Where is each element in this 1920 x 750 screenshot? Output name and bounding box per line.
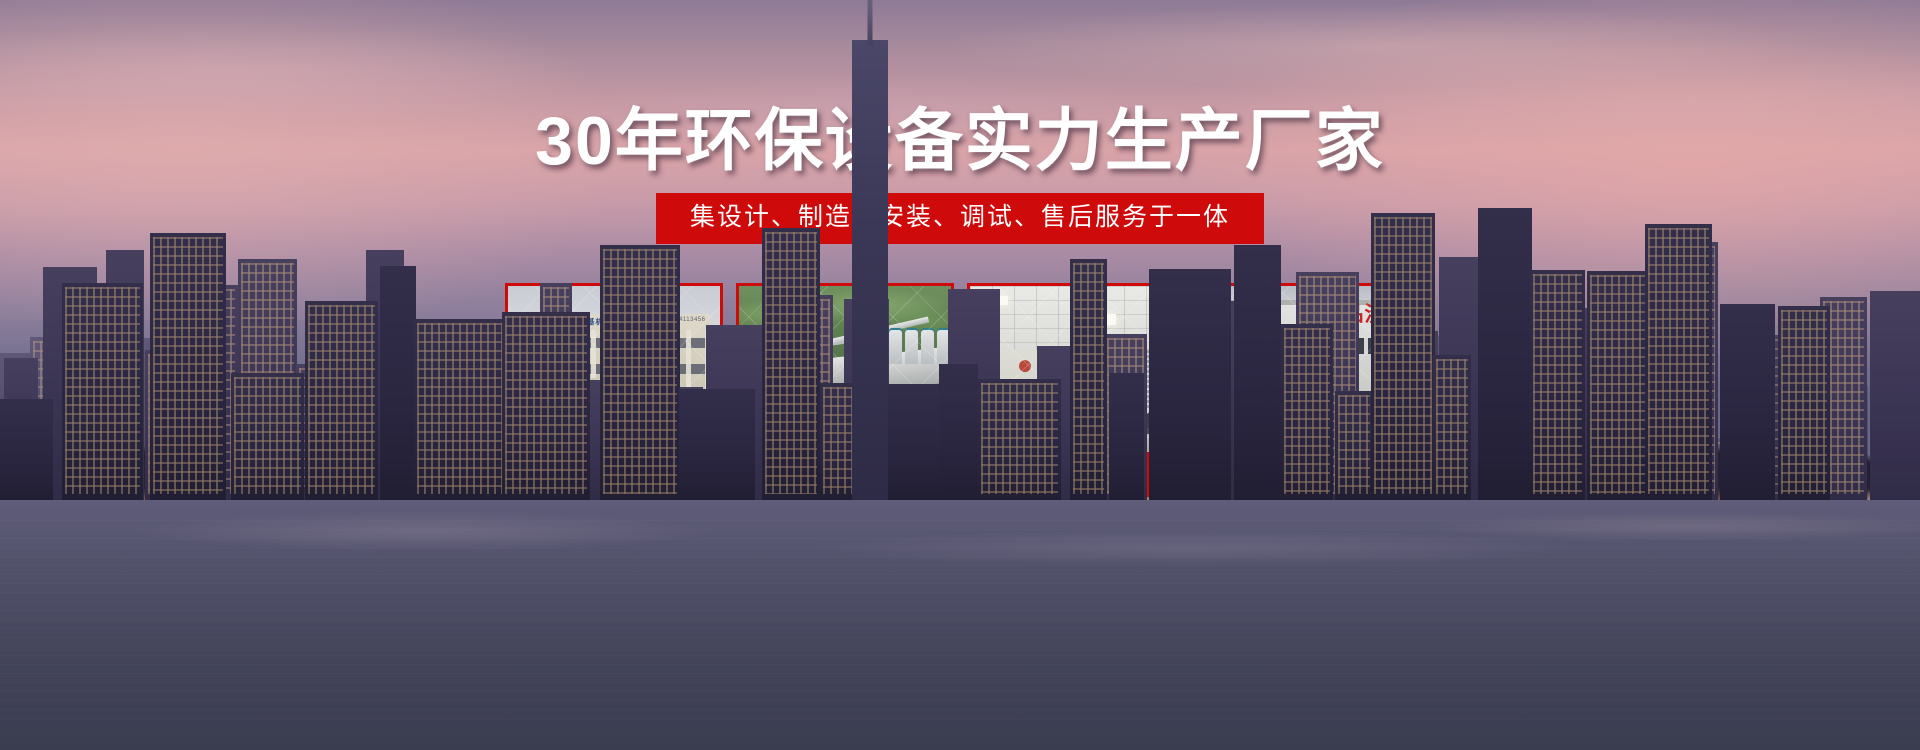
skyline-building — [414, 319, 506, 500]
skyline-building — [502, 312, 590, 500]
hero-banner: 30年环保设备实力生产厂家 集设计、制造、安装、调试、售后服务于一体 中基机械 … — [0, 0, 1920, 750]
skyline-building — [939, 364, 978, 500]
skyline-building — [1870, 291, 1920, 500]
banner-subtitle-wrap: 集设计、制造、安装、调试、售后服务于一体 — [0, 193, 1920, 244]
skyline-building — [762, 228, 820, 500]
skyline-building — [62, 283, 143, 500]
banner-subtitle: 集设计、制造、安装、调试、售后服务于一体 — [656, 193, 1264, 244]
skyline-building — [978, 379, 1061, 500]
skyline-building — [1433, 355, 1471, 500]
skyline-building — [1645, 224, 1712, 500]
skyline-building — [1778, 306, 1830, 500]
skyline-building — [305, 301, 378, 500]
skyline-building — [0, 399, 53, 500]
skyline-building — [150, 233, 226, 500]
skyline-building — [380, 266, 416, 500]
skyline-building — [679, 389, 755, 500]
skyline-building — [1070, 259, 1107, 500]
skyline-building — [231, 373, 304, 500]
building-signage-phone: 4113456 — [679, 317, 705, 323]
skyline-building — [1109, 373, 1144, 500]
skyline-building — [1530, 270, 1585, 500]
skyline-building — [1335, 391, 1373, 500]
skyline-building — [1149, 269, 1231, 500]
skyline-building — [1478, 208, 1532, 500]
banner-headline: 30年环保设备实力生产厂家 — [0, 103, 1920, 179]
skyline-building — [1234, 245, 1281, 500]
skyline-building — [1587, 271, 1648, 500]
skyline-building — [600, 245, 680, 500]
tower-spire — [868, 0, 873, 45]
skyline-building — [1281, 324, 1333, 500]
skyline-building — [1371, 213, 1435, 500]
skyline-building — [1720, 304, 1775, 500]
landmark-tower — [852, 40, 888, 500]
